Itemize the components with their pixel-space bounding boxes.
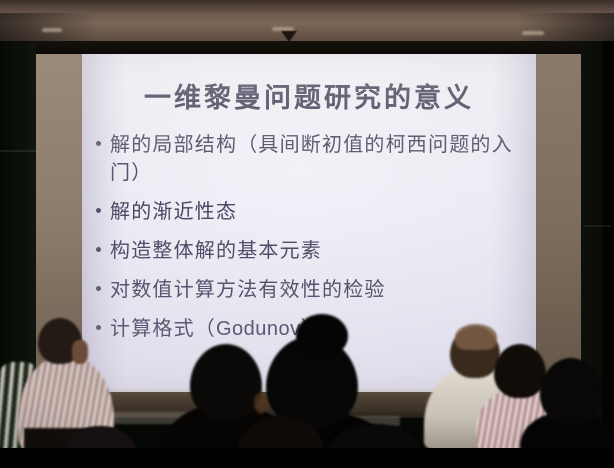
right-wall-seam	[583, 225, 611, 227]
list-item: 解的局部结构（具间断初值的柯西问题的入门）	[96, 130, 532, 186]
screen-frame-left	[36, 54, 82, 446]
slide-content: 一维黎曼问题研究的意义 解的局部结构（具间断初值的柯西问题的入门） 解的渐近性态…	[82, 54, 536, 392]
list-item: 计算格式（Godunov）	[96, 314, 532, 343]
ceiling-light-icon	[522, 31, 544, 35]
desk-paper	[476, 408, 510, 422]
torso	[246, 412, 392, 468]
desk-row	[36, 392, 582, 418]
list-item: 解的渐近性态	[96, 197, 532, 225]
wall-dark-band	[0, 41, 614, 55]
bullet-dot-icon	[96, 141, 101, 146]
projection-screen: 一维黎曼问题研究的意义 解的局部结构（具间断初值的柯西问题的入门） 解的渐近性态…	[82, 54, 536, 392]
bullet-text: 构造整体解的基本元素	[110, 236, 532, 264]
ear	[254, 392, 268, 414]
head	[326, 424, 422, 468]
frame-bottom-letterbox	[0, 448, 614, 468]
ceiling-light-icon	[42, 28, 62, 32]
slide-bullet-list: 解的局部结构（具间断初值的柯西问题的入门） 解的渐近性态 构造整体解的基本元素 …	[96, 130, 532, 354]
desk-paper	[112, 412, 194, 424]
desk-paper	[330, 416, 400, 426]
lecture-photo-frame: 一维黎曼问题研究的意义 解的局部结构（具间断初值的柯西问题的入门） 解的渐近性态…	[0, 0, 614, 468]
list-item: 对数值计算方法有效性的检验	[96, 275, 532, 303]
bullet-dot-icon	[96, 325, 101, 330]
bullet-text-cjk-suffix: ）	[301, 316, 322, 340]
left-wall-seam	[0, 150, 36, 152]
bullet-text: 解的渐近性态	[110, 197, 532, 225]
left-wall	[0, 41, 36, 441]
ceiling	[0, 0, 614, 14]
bullet-dot-icon	[96, 286, 101, 291]
screen-frame-right	[536, 54, 581, 446]
bullet-text-latin: Godunov	[216, 318, 301, 340]
list-item: 构造整体解的基本元素	[96, 236, 532, 264]
bullet-dot-icon	[96, 247, 101, 252]
bullet-text: 解的局部结构（具间断初值的柯西问题的入门）	[110, 130, 532, 186]
head	[238, 416, 324, 468]
slide-title: 一维黎曼问题研究的意义	[82, 76, 536, 115]
bullet-dot-icon	[96, 208, 101, 213]
bullet-text-cjk-prefix: 计算格式（	[110, 316, 216, 340]
torso	[162, 404, 292, 468]
bullet-text: 对数值计算方法有效性的检验	[110, 275, 532, 303]
upper-wall-shading	[0, 13, 614, 43]
right-wall-edge	[602, 41, 614, 441]
bullet-text: 计算格式（Godunov）	[110, 314, 532, 343]
